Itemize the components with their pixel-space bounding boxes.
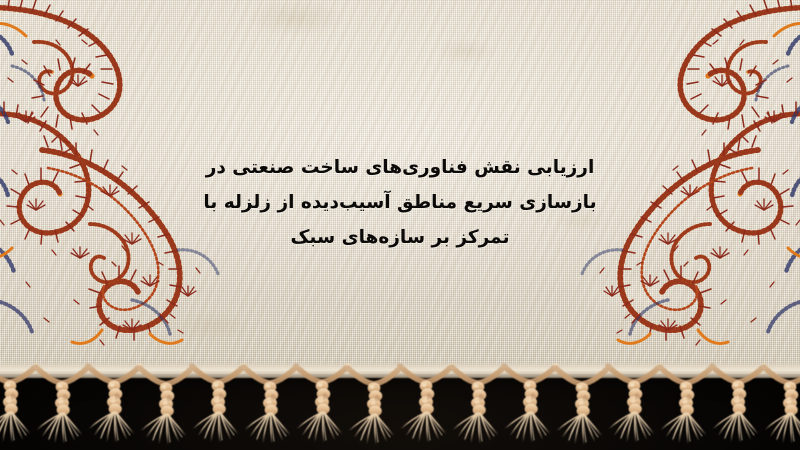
cloth-selvedge-edge (0, 362, 800, 378)
title-line-2: بازسازی سریع مناطق آسیب‌دیده از زلزله با (170, 185, 630, 220)
page-title: ارزیابی نقش فناوری‌های ساخت صنعتی در باز… (170, 150, 630, 255)
slide-canvas: ارزیابی نقش فناوری‌های ساخت صنعتی در باز… (0, 0, 800, 450)
title-line-3: تمرکز بر سازه‌های سبک (170, 220, 630, 255)
title-line-1: ارزیابی نقش فناوری‌های ساخت صنعتی در (170, 150, 630, 185)
